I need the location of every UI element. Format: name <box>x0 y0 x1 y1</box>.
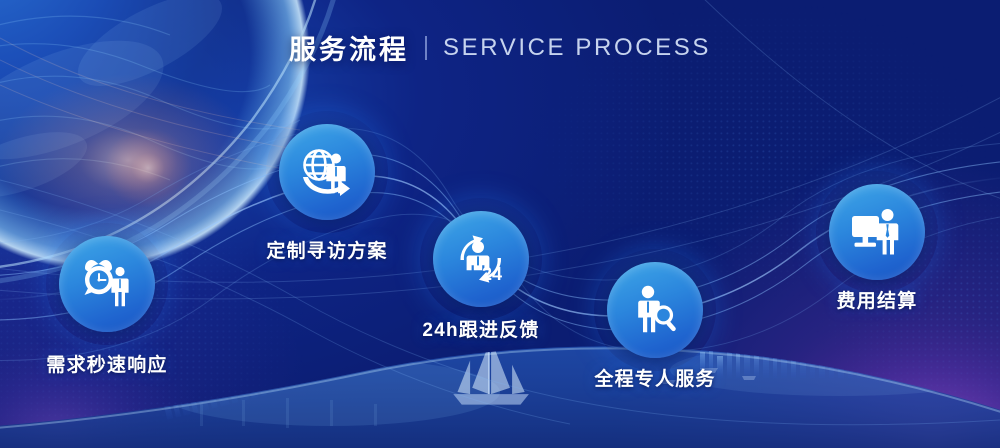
step-2-label: 定制寻访方案 <box>266 236 387 263</box>
sailing-ship <box>453 337 529 404</box>
person-figure <box>111 267 128 306</box>
magnifier <box>654 305 677 332</box>
title-cn: 服务流程 <box>289 28 409 67</box>
step-2-disc[interactable] <box>279 124 375 220</box>
service-process-banner: 服务流程 SERVICE PROCESS <box>0 0 1000 448</box>
step-1-label: 需求秒速响应 <box>46 350 167 377</box>
step-4-label: 全程专人服务 <box>594 364 715 391</box>
globe-person-arrow-icon <box>298 143 356 201</box>
title-divider <box>425 36 427 60</box>
monitor-person-icon <box>849 204 905 260</box>
monitor <box>852 216 879 247</box>
step-4-disc[interactable] <box>607 262 703 358</box>
step-5-label: 费用结算 <box>837 286 918 313</box>
banner-header: 服务流程 SERVICE PROCESS <box>0 28 1000 67</box>
step-1-disc[interactable] <box>59 236 155 332</box>
svg-text:24: 24 <box>482 264 502 284</box>
person-magnifier-icon <box>627 282 683 338</box>
step-5-disc[interactable] <box>829 184 925 280</box>
alarm-clock-person-icon <box>79 256 135 312</box>
title-en: SERVICE PROCESS <box>443 34 711 62</box>
step-3-label: 24h跟进反馈 <box>422 315 539 342</box>
step-3-disc[interactable]: 24 <box>433 211 529 307</box>
person-24h-cycle-icon: 24 <box>452 230 510 288</box>
person-figure <box>877 209 899 255</box>
